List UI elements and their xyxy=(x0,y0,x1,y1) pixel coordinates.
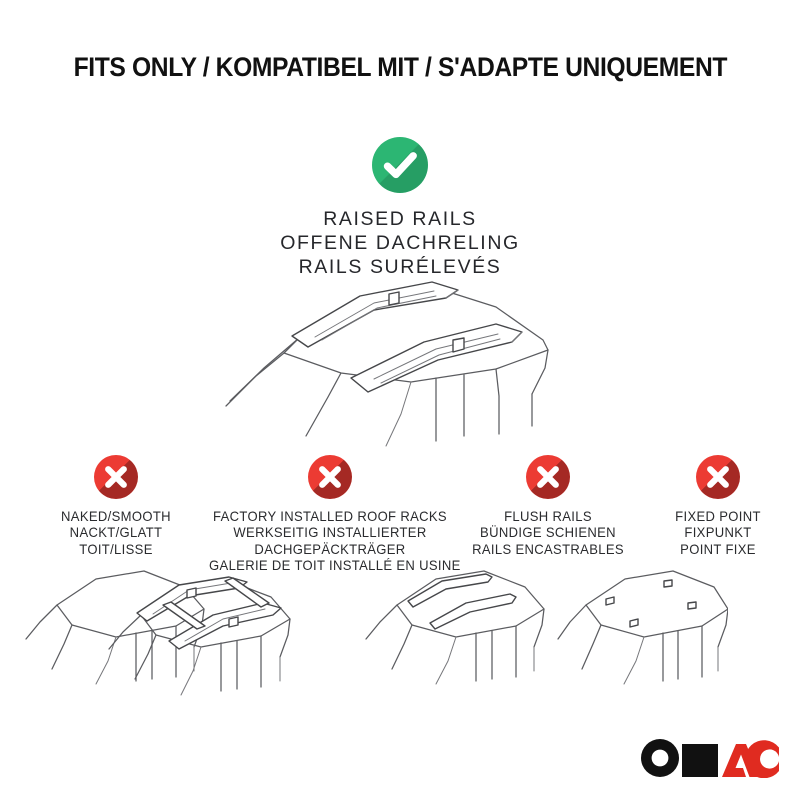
x-circle-icon xyxy=(526,455,570,499)
logo-letter-m xyxy=(682,744,718,777)
compatible-label-en: RAISED RAILS xyxy=(0,207,800,231)
page-title-text: FITS ONLY / KOMPATIBEL MIT / S'ADAPTE UN… xyxy=(73,52,726,83)
page-title: FITS ONLY / KOMPATIBEL MIT / S'ADAPTE UN… xyxy=(0,52,800,83)
label-line: POINT FIXE xyxy=(643,542,793,558)
label-line: NAKED/SMOOTH xyxy=(32,509,201,525)
incompatible-item-flush-rails: FLUSH RAILS BÜNDIGE SCHIENEN RAILS ENCAS… xyxy=(456,455,640,558)
omac-logo xyxy=(640,738,780,778)
check-circle-icon xyxy=(372,137,428,193)
car-roof-with-flush-rails-illustration xyxy=(364,559,548,689)
incompatible-item-factory-roof-racks: FACTORY INSTALLED ROOF RACKS WERKSEITIG … xyxy=(204,455,456,575)
logo-letter-o xyxy=(641,739,679,777)
compatible-labels: RAISED RAILS OFFENE DACHRELING RAILS SUR… xyxy=(0,207,800,279)
incompatible-labels-flush-rails: FLUSH RAILS BÜNDIGE SCHIENEN RAILS ENCAS… xyxy=(456,509,640,558)
label-line: DACHGEPÄCKTRÄGER xyxy=(209,542,451,558)
compatible-label-de: OFFENE DACHRELING xyxy=(0,231,800,255)
label-line: FIXED POINT xyxy=(643,509,793,525)
label-line: BÜNDIGE SCHIENEN xyxy=(460,525,637,541)
x-circle-icon xyxy=(308,455,352,499)
car-roof-with-factory-cross-bars-illustration xyxy=(101,559,307,699)
label-line: RAILS ENCASTRABLES xyxy=(460,542,637,558)
car-roof-with-fixed-points-illustration xyxy=(556,559,728,689)
incompatible-item-fixed-point: FIXED POINT FIXPUNKT POINT FIXE xyxy=(640,455,796,558)
compatible-section: RAISED RAILS OFFENE DACHRELING RAILS SUR… xyxy=(0,137,800,279)
car-roof-with-raised-rails-illustration xyxy=(196,276,626,456)
label-line: FIXPUNKT xyxy=(643,525,793,541)
x-circle-icon xyxy=(94,455,138,499)
incompatible-item-naked-smooth: NAKED/SMOOTH NACKT/GLATT TOIT/LISSE xyxy=(28,455,204,558)
incompatible-labels-fixed-point: FIXED POINT FIXPUNKT POINT FIXE xyxy=(640,509,796,558)
label-line: TOIT/LISSE xyxy=(32,542,201,558)
label-line: NACKT/GLATT xyxy=(32,525,201,541)
label-line: WERKSEITIG INSTALLIERTER xyxy=(209,525,451,541)
incompatible-labels-naked-smooth: NAKED/SMOOTH NACKT/GLATT TOIT/LISSE xyxy=(28,509,204,558)
label-line: FLUSH RAILS xyxy=(460,509,637,525)
x-circle-icon xyxy=(696,455,740,499)
label-line: FACTORY INSTALLED ROOF RACKS xyxy=(209,509,451,525)
